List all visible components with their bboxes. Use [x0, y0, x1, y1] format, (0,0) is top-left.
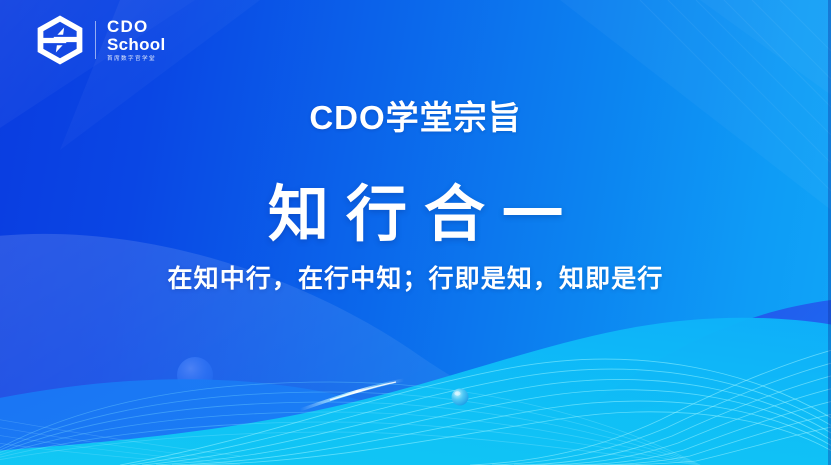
logo-line-cdo: CDO [107, 18, 165, 35]
wave-deep-right [460, 300, 831, 465]
decorative-bubble-large [177, 357, 213, 393]
logo-wordmark: CDO School 首席数字官学堂 [105, 18, 165, 63]
hairline-curve-group-right [470, 345, 831, 465]
bubble-highlight [454, 391, 460, 395]
light-streak-core [330, 382, 396, 400]
logo-subtitle: 首席数字官学堂 [107, 57, 165, 63]
hairline-fan-bottom-left [0, 418, 240, 465]
hexagon-s-logo-icon [34, 14, 86, 66]
logo-divider [95, 21, 96, 59]
logo-line-school: School [107, 36, 165, 54]
wave-cyan-front [0, 318, 831, 465]
slide-canvas: CDO School 首席数字官学堂 CDO学堂宗旨 知行合一 在知中行，在行中… [0, 0, 831, 465]
wave-mid [0, 372, 831, 465]
hairline-curve-group-left [0, 382, 700, 465]
hairline-curve-group-arc [120, 359, 831, 465]
slide-headline: 知行合一 [0, 138, 831, 248]
decorative-bubble-small [452, 389, 469, 406]
brand-logo[interactable]: CDO School 首席数字官学堂 [34, 14, 165, 66]
wave-deep-left [0, 411, 440, 465]
light-streak [300, 380, 404, 410]
slide-subline: 在知中行，在行中知；行即是知，知即是行 [0, 248, 831, 295]
